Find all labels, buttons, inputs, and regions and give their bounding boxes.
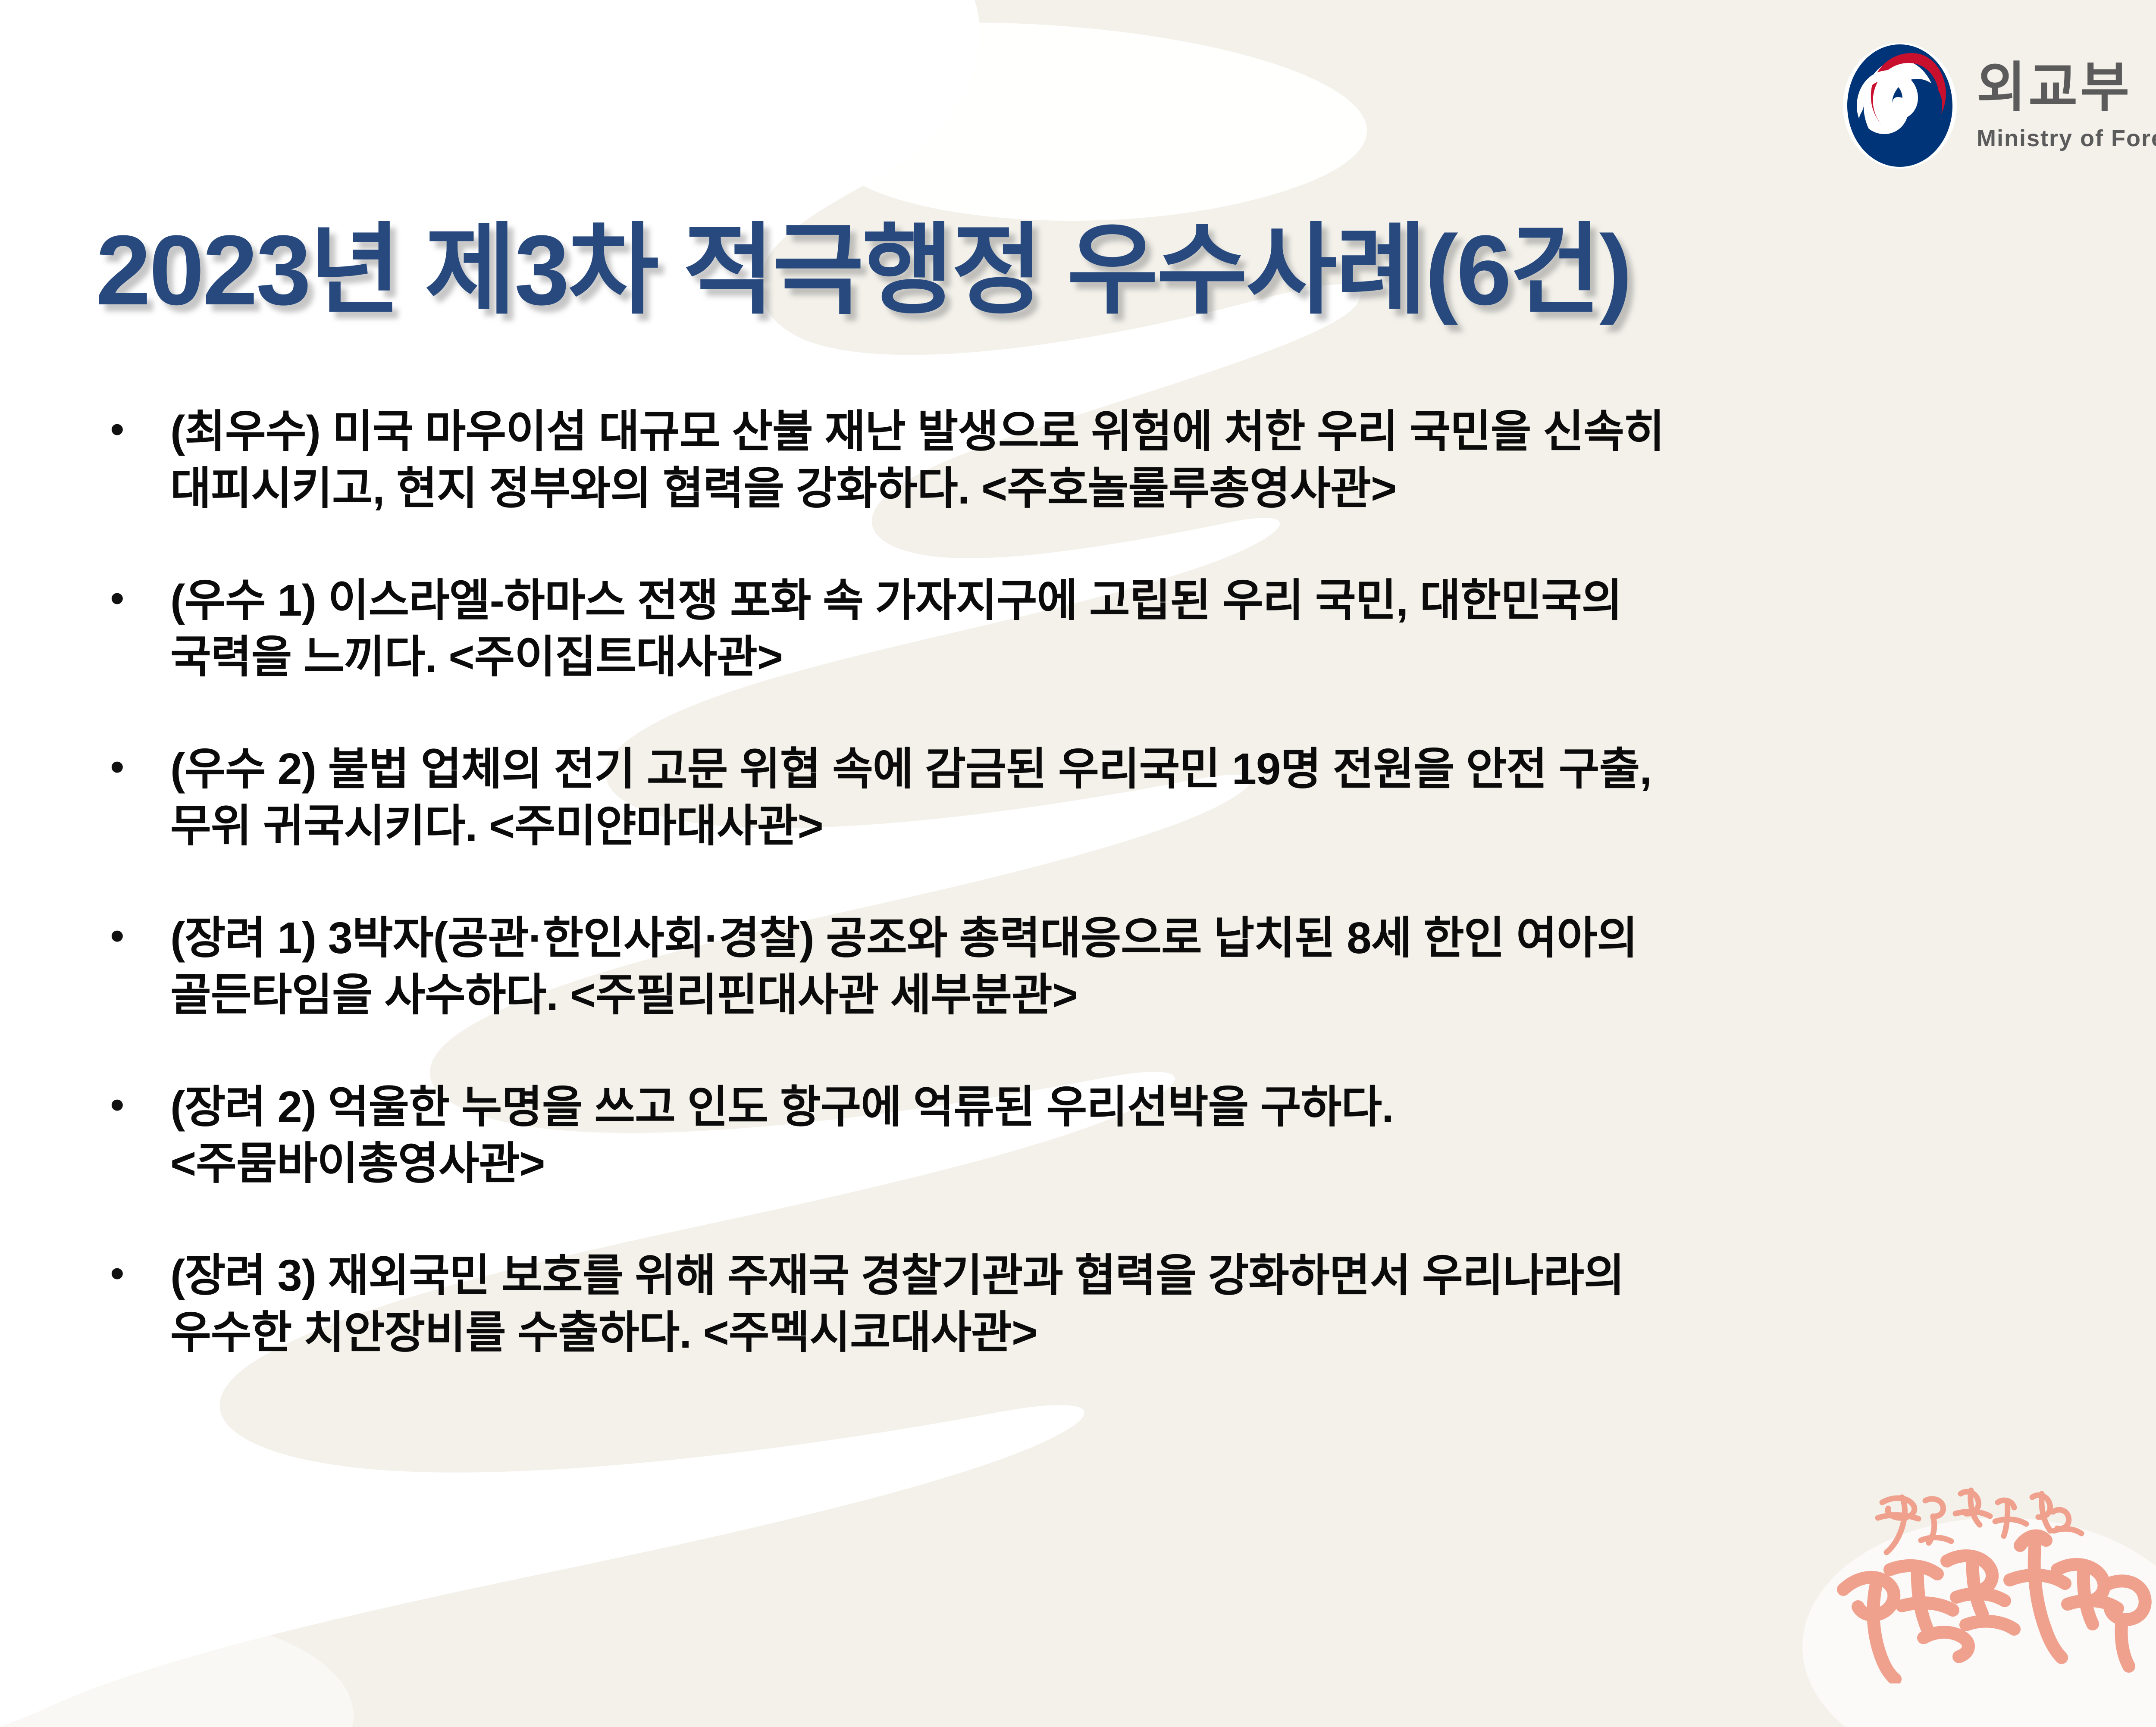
list-item-line: 국력을 느끼다. <주이집트대사관> <box>170 629 2059 685</box>
list-item: • (최우수) 미국 마우이섬 대규모 산불 재난 발생으로 위험에 처한 우리… <box>93 403 2059 517</box>
list-item-text: (장려 3) 재외국민 보호를 위해 주재국 경찰기관과 협력을 강화하면서 우… <box>170 1247 2059 1361</box>
bullet-marker-icon: • <box>93 403 170 456</box>
list-item-line: 무위 귀국시키다. <주미얀마대사관> <box>170 798 2059 854</box>
bullet-marker-icon: • <box>93 910 170 963</box>
list-item-line: (우수 2) 불법 업체의 전기 고문 위협 속에 감금된 우리국민 19명 전… <box>170 741 2059 798</box>
ministry-name-english: Ministry of Foreign Affairs <box>1977 125 2156 152</box>
list-item-line: <주뭄바이총영사관> <box>170 1135 2059 1192</box>
list-item-line: (최우수) 미국 마우이섬 대규모 산불 재난 발생으로 위험에 처한 우리 국… <box>170 403 2059 460</box>
taegeuk-symbol-icon <box>1841 41 1959 170</box>
list-item-text: (장려 1) 3박자(공관·한인사회·경찰) 공조와 총력대응으로 납치된 8세… <box>170 910 2059 1023</box>
bullet-marker-icon: • <box>93 1079 170 1132</box>
list-item-line: 우수한 치안장비를 수출하다. <주멕시코대사관> <box>170 1304 2059 1361</box>
list-item-text: (최우수) 미국 마우이섬 대규모 산불 재난 발생으로 위험에 처한 우리 국… <box>170 403 2059 517</box>
list-item: • (장려 1) 3박자(공관·한인사회·경찰) 공조와 총력대응으로 납치된 … <box>93 910 2059 1023</box>
bullet-marker-icon: • <box>93 572 170 625</box>
ministry-name-korean: 외교부 <box>1977 59 2156 116</box>
list-item: • (우수 1) 이스라엘-하마스 전쟁 포화 속 가자지구에 고립된 우리 국… <box>93 572 2059 686</box>
list-item: • (장려 3) 재외국민 보호를 위해 주재국 경찰기관과 협력을 강화하면서… <box>93 1247 2059 1361</box>
list-item-line: (장려 2) 억울한 누명을 쓰고 인도 항구에 억류된 우리선박을 구하다. <box>170 1079 2059 1136</box>
active-administration-brush-logo: 국민을 춤케하는 적극행정 <box>1818 1477 2156 1683</box>
list-item-line: (장려 3) 재외국민 보호를 위해 주재국 경찰기관과 협력을 강화하면서 우… <box>170 1247 2059 1304</box>
ministry-wordmark: 외교부 Ministry of Foreign Affairs <box>1977 59 2156 152</box>
bullet-marker-icon: • <box>93 741 170 794</box>
list-item: • (장려 2) 억울한 누명을 쓰고 인도 항구에 억류된 우리선박을 구하다… <box>93 1079 2059 1192</box>
list-item-text: (우수 1) 이스라엘-하마스 전쟁 포화 속 가자지구에 고립된 우리 국민,… <box>170 572 2059 686</box>
page-title: 2023년 제3차 적극행정 우수사례(6건) <box>96 190 1631 333</box>
list-item-line: 대피시키고, 현지 정부와의 협력을 강화하다. <주호놀룰루총영사관> <box>170 460 2059 517</box>
case-list: • (최우수) 미국 마우이섬 대규모 산불 재난 발생으로 위험에 처한 우리… <box>93 403 2059 1416</box>
list-item-line: 골든타임을 사수하다. <주필리핀대사관 세부분관> <box>170 967 2059 1023</box>
background-accent-circle-2 <box>0 1612 354 1727</box>
list-item-text: (장려 2) 억울한 누명을 쓰고 인도 항구에 억류된 우리선박을 구하다. … <box>170 1079 2059 1192</box>
presentation-slide: 외교부 Ministry of Foreign Affairs 2023년 제3… <box>0 0 2156 1727</box>
list-item: • (우수 2) 불법 업체의 전기 고문 위협 속에 감금된 우리국민 19명… <box>93 741 2059 854</box>
list-item-text: (우수 2) 불법 업체의 전기 고문 위협 속에 감금된 우리국민 19명 전… <box>170 741 2059 854</box>
list-item-line: (장려 1) 3박자(공관·한인사회·경찰) 공조와 총력대응으로 납치된 8세… <box>170 910 2059 967</box>
ministry-logo: 외교부 Ministry of Foreign Affairs <box>1841 41 2156 170</box>
bullet-marker-icon: • <box>93 1247 170 1300</box>
list-item-line: (우수 1) 이스라엘-하마스 전쟁 포화 속 가자지구에 고립된 우리 국민,… <box>170 572 2059 629</box>
